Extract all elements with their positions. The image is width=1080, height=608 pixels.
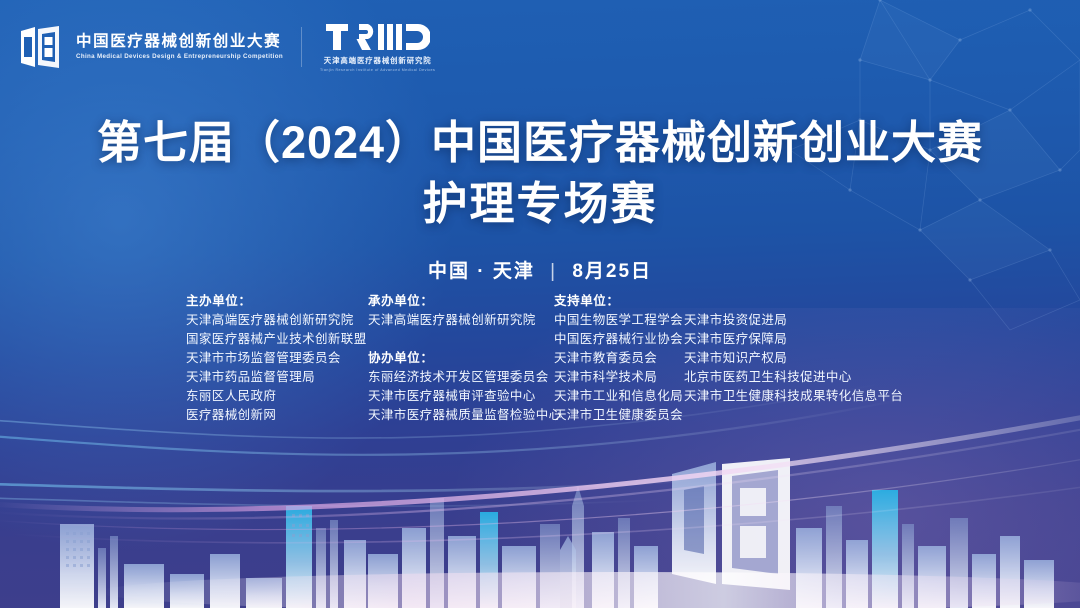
poster-title-main: 第七届（2024）中国医疗器械创新创业大赛 <box>0 116 1080 171</box>
competition-wordmark: 中国医疗器械创新创业大赛 China Medical Devices Desig… <box>76 33 283 61</box>
competition-name-zh: 中国医疗器械创新创业大赛 <box>76 33 283 51</box>
header-logo-bar: 中国医疗器械创新创业大赛 China Medical Devices Desig… <box>18 22 435 72</box>
poster-title-sub: 护理专场赛 <box>0 175 1080 234</box>
logo-divider <box>301 27 302 67</box>
trimd-logo: 天津高端医疗器械创新研究院 Tianjin Research Institute… <box>320 22 435 72</box>
title-block: 第七届（2024）中国医疗器械创新创业大赛 护理专场赛 <box>0 116 1080 233</box>
competition-door-logo-icon <box>18 25 62 69</box>
poster-canvas: 中国医疗器械创新创业大赛 China Medical Devices Desig… <box>0 0 1080 608</box>
trimd-name-zh: 天津高端医疗器械创新研究院 <box>324 55 432 66</box>
meta-separator: | <box>550 261 557 283</box>
event-meta-line: 中国 · 天津 | 8月25日 <box>0 256 1080 283</box>
competition-name-en: China Medical Devices Design & Entrepren… <box>76 53 283 60</box>
trimd-wordmark-icon <box>326 22 430 52</box>
event-location: 中国 · 天津 <box>428 261 535 282</box>
event-date: 8月25日 <box>572 261 652 282</box>
light-streak-curves <box>0 308 1080 608</box>
trimd-name-en: Tianjin Research Institute of Advanced M… <box>320 68 435 72</box>
